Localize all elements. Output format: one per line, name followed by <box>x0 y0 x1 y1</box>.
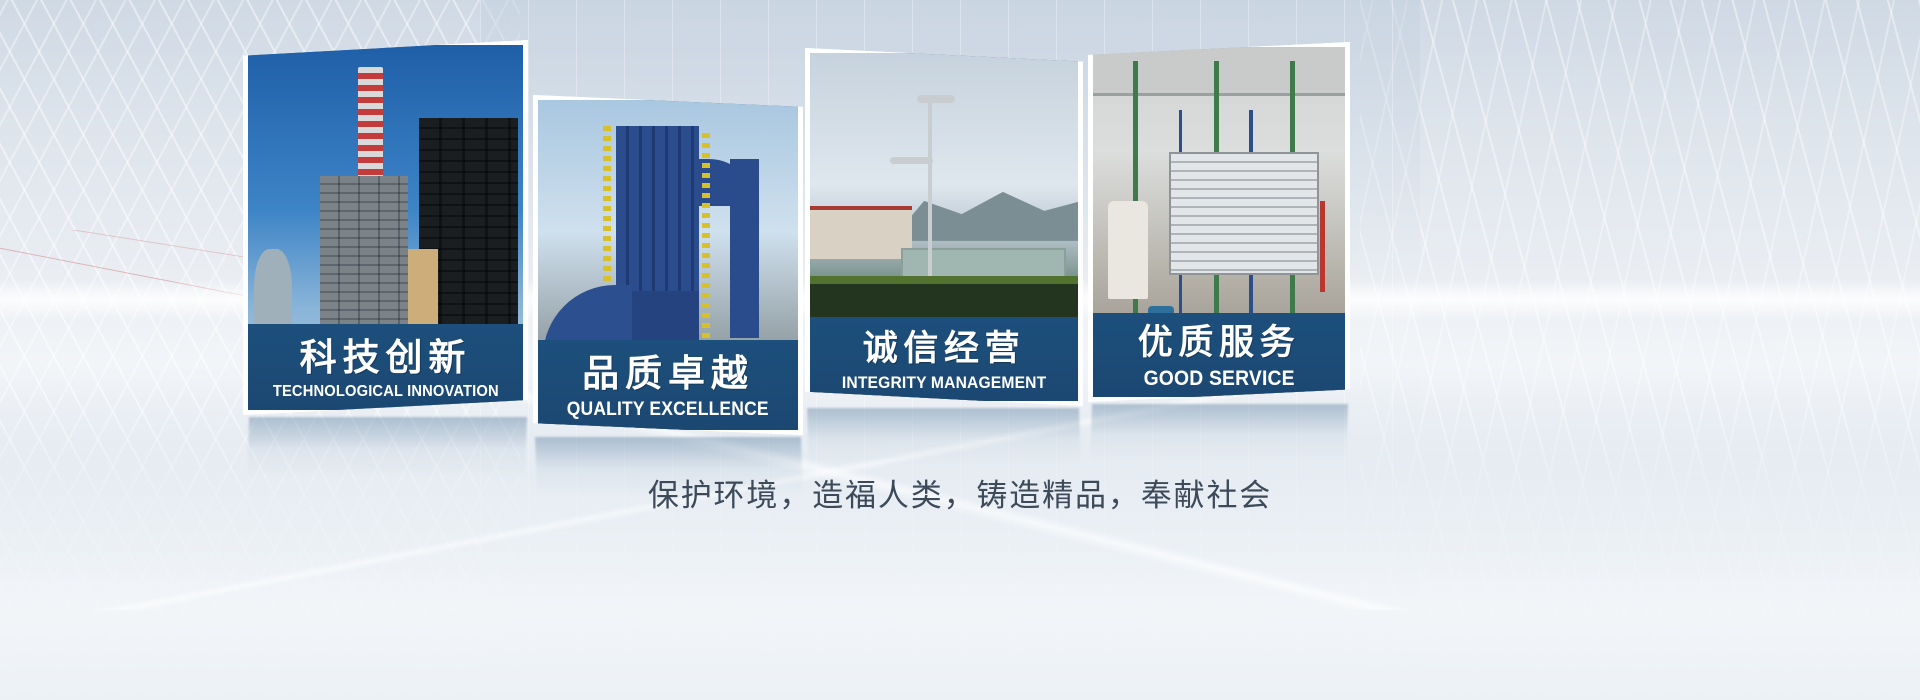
panel-title-en: GOOD SERVICE <box>1143 368 1294 389</box>
feature-panel-technological-innovation[interactable]: 科技创新 TECHNOLOGICAL INNOVATION <box>243 40 528 415</box>
panel-frame: 品质卓越 QUALITY EXCELLENCE <box>533 95 803 435</box>
panel-caption: 优质服务 GOOD SERVICE <box>1093 313 1345 397</box>
feature-panel-group: 科技创新 TECHNOLOGICAL INNOVATION <box>0 0 1920 700</box>
panel-frame-inner: 科技创新 TECHNOLOGICAL INNOVATION <box>248 45 523 410</box>
panel-frame-inner: 品质卓越 QUALITY EXCELLENCE <box>538 100 798 430</box>
panel-title-en: INTEGRITY MANAGEMENT <box>842 374 1046 391</box>
panel-title-cn: 优质服务 <box>1138 325 1300 360</box>
hero-banner: 科技创新 TECHNOLOGICAL INNOVATION <box>0 0 1920 700</box>
panel-frame: 诚信经营 INTEGRITY MANAGEMENT <box>805 48 1083 406</box>
panel-title-cn: 品质卓越 <box>582 355 754 392</box>
panel-frame-inner: 诚信经营 INTEGRITY MANAGEMENT <box>810 53 1078 401</box>
panel-caption: 品质卓越 QUALITY EXCELLENCE <box>538 340 798 430</box>
feature-panel-good-service[interactable]: 优质服务 GOOD SERVICE <box>1088 42 1350 402</box>
feature-panel-integrity-management[interactable]: 诚信经营 INTEGRITY MANAGEMENT <box>805 48 1083 406</box>
banner-tagline: 保护环境，造福人类，铸造精品，奉献社会 <box>0 470 1920 515</box>
panel-frame: 优质服务 GOOD SERVICE <box>1088 42 1350 402</box>
feature-panel-quality-excellence[interactable]: 品质卓越 QUALITY EXCELLENCE <box>533 95 803 435</box>
panel-caption: 科技创新 TECHNOLOGICAL INNOVATION <box>248 324 523 410</box>
panel-frame-inner: 优质服务 GOOD SERVICE <box>1093 47 1345 397</box>
panel-caption: 诚信经营 INTEGRITY MANAGEMENT <box>810 317 1078 401</box>
panel-frame: 科技创新 TECHNOLOGICAL INNOVATION <box>243 40 528 415</box>
panel-title-cn: 诚信经营 <box>863 331 1025 366</box>
panel-title-en: QUALITY EXCELLENCE <box>567 400 769 419</box>
panel-title-en: TECHNOLOGICAL INNOVATION <box>273 384 499 400</box>
panel-title-cn: 科技创新 <box>300 339 472 376</box>
